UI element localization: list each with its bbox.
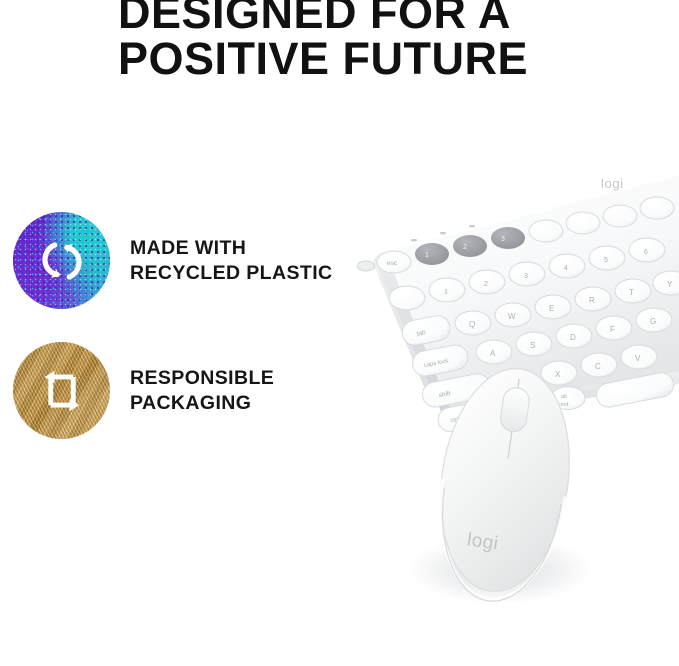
svg-text:Q: Q [469,320,475,329]
svg-text:T: T [629,288,634,297]
bluetooth-key-1 [415,243,449,265]
svg-text:3: 3 [524,273,528,280]
recycling-loop-icon [13,212,110,309]
svg-text:X: X [555,370,561,379]
svg-text:5: 5 [604,257,608,264]
svg-text:6: 6 [644,249,648,256]
feature-label-line-2: RECYCLED PLASTIC [130,261,333,286]
feature-label-line-1: MADE WITH [130,236,333,261]
headline-line-1: DESIGNED FOR A [118,0,658,36]
svg-text:S: S [530,341,535,350]
svg-text:4: 4 [564,265,568,272]
svg-text:C: C [595,362,601,371]
svg-text:esc: esc [387,260,398,267]
svg-text:1: 1 [444,289,448,296]
svg-text:3: 3 [501,236,505,243]
recycled-plastic-badge [13,212,110,309]
svg-text:2: 2 [463,244,467,251]
feature-row-recycled-plastic: MADE WITH RECYCLED PLASTIC [13,212,333,309]
svg-text:1: 1 [425,252,429,259]
feature-row-responsible-packaging: RESPONSIBLE PACKAGING [13,342,274,439]
feature-label-line-1: RESPONSIBLE [130,366,274,391]
svg-text:F: F [610,325,615,334]
feature-label-line-2: PACKAGING [130,391,274,416]
svg-text:D: D [570,333,576,342]
square-arrow-loop-icon [13,342,110,439]
svg-text:G: G [650,317,656,326]
product-photo-keyboard-and-mouse: logi esc 1 2 3 [330,140,679,610]
svg-text:A: A [490,349,496,358]
page-headline: DESIGNED FOR A POSITIVE FUTURE [118,0,658,82]
feature-label-recycled-plastic: MADE WITH RECYCLED PLASTIC [130,236,333,286]
svg-text:R: R [589,296,595,305]
bluetooth-key-2 [453,235,487,257]
svg-text:alt: alt [561,394,567,400]
keyboard-brand-mark: logi [601,176,624,191]
bluetooth-key-3 [491,227,525,249]
responsible-packaging-badge [13,342,110,439]
svg-text:W: W [508,312,516,321]
svg-text:2: 2 [484,281,488,288]
svg-text:V: V [635,354,641,363]
headline-line-2: POSITIVE FUTURE [118,36,658,82]
svg-text:E: E [549,304,554,313]
mouse-brand-mark: logi [466,529,500,554]
feature-label-responsible-packaging: RESPONSIBLE PACKAGING [130,366,274,416]
svg-text:Y: Y [667,280,673,289]
